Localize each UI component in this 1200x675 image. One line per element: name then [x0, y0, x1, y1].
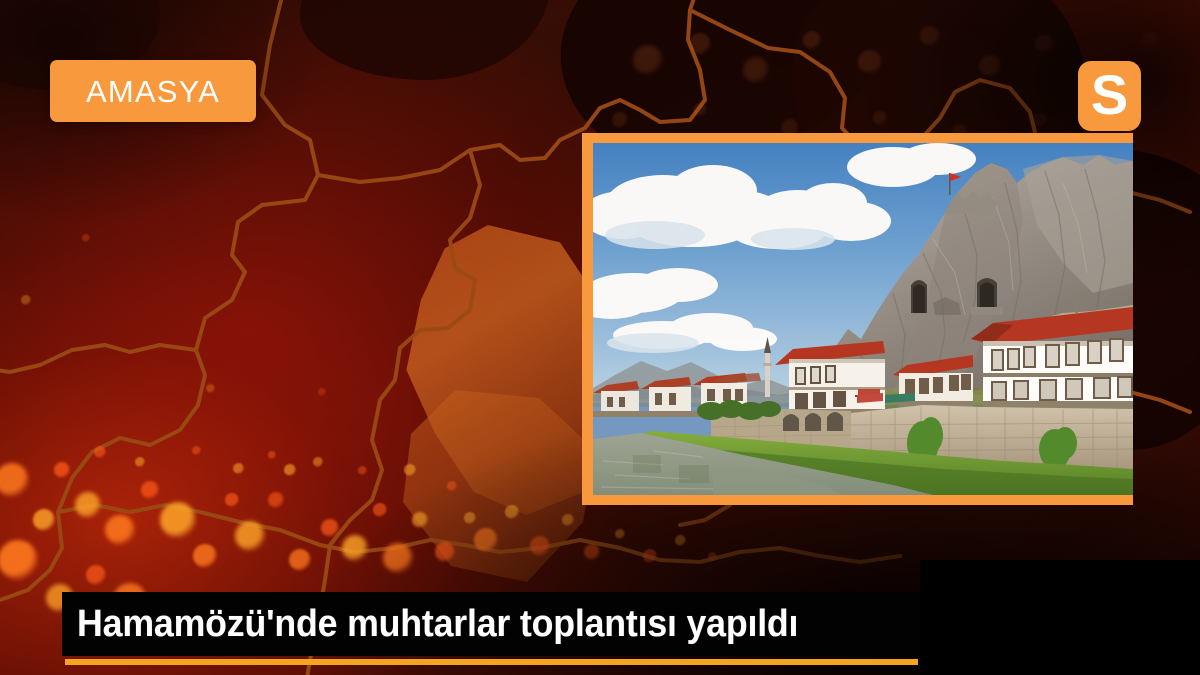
- bottom-black-area: [920, 560, 1200, 675]
- photo-frame: [582, 133, 1133, 505]
- headline-text: Hamamözü'nde muhtarlar toplantısı yapıld…: [62, 603, 798, 646]
- news-cover-card: AMASYA: [0, 0, 1200, 675]
- city-badge-label: AMASYA: [86, 76, 220, 107]
- city-badge[interactable]: AMASYA: [50, 60, 256, 122]
- brand-s-logo[interactable]: S: [1078, 61, 1141, 131]
- brand-s-logo-letter: S: [1091, 67, 1128, 123]
- news-photo: [593, 143, 1133, 495]
- headline-underline-rule: [65, 659, 918, 665]
- amasya-photo-illustration: [593, 143, 1133, 495]
- headline-band: Hamamözü'nde muhtarlar toplantısı yapıld…: [62, 592, 920, 656]
